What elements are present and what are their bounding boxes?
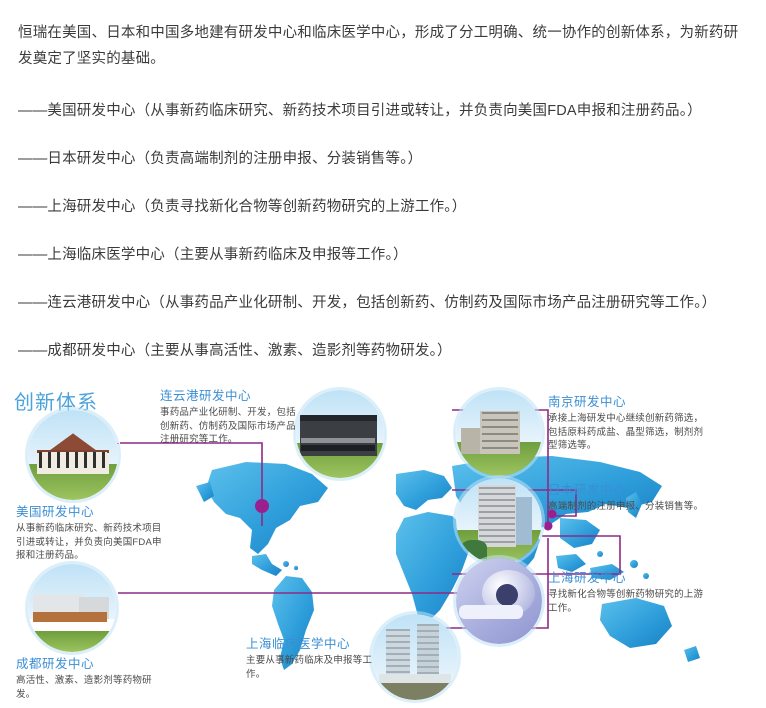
lianyungang-center-desc: 事药品产业化研制、开发，包括创新药、仿制药及国际市场产品注册研究等工作。 <box>160 406 300 447</box>
chengdu-center-photo <box>28 564 116 652</box>
paragraph-chengdu-center: ——成都研发中心（主要从事高活性、激素、造影剂等药物研发。） <box>18 338 748 364</box>
chengdu-center-desc: 高活性、激素、造影剂等药物研发。 <box>16 674 166 701</box>
innovation-system-infographic: 创新体系 <box>0 378 766 708</box>
japan-center-title: 日本研发中心 <box>548 482 708 498</box>
us-center-label: 美国研发中心 从事新药临床研究、新药技术项目引进或转让，并负责向美国FDA申报和… <box>16 504 166 563</box>
lianyungang-center-label: 连云港研发中心 事药品产业化研制、开发，包括创新药、仿制药及国际市场产品注册研究… <box>160 388 300 447</box>
shanghai-clinical-label: 上海临床医学中心 主要从事新药临床及申报等工作。 <box>246 636 376 681</box>
paragraph-shanghai-center: ——上海研发中心（负责寻找新化合物等创新药物研究的上游工作。） <box>18 194 748 220</box>
article-body: 恒瑞在美国、日本和中国多地建有研发中心和临床医学中心，形成了分工明确、统一协作的… <box>0 0 766 412</box>
japan-center-desc: 高端制剂的注册申报、分装销售等。 <box>548 500 708 514</box>
paragraph-japan-center: ——日本研发中心（负责高端制剂的注册申报、分装销售等。） <box>18 146 748 172</box>
nanjing-center-photo <box>456 390 542 476</box>
nanjing-center-label: 南京研发中心 承接上海研发中心继续创新药筛选，包括原料药成盐、晶型筛选，制剂剂型… <box>548 394 708 453</box>
lianyungang-center-photo <box>296 390 384 478</box>
shanghai-clinical-desc: 主要从事新药临床及申报等工作。 <box>246 654 376 681</box>
shanghai-center-desc: 寻找新化合物等创新药物研究的上游工作。 <box>548 588 708 615</box>
us-center-desc: 从事新药临床研究、新药技术项目引进或转让，并负责向美国FDA申报和注册药品。 <box>16 522 166 563</box>
shanghai-center-label: 上海研发中心 寻找新化合物等创新药物研究的上游工作。 <box>548 570 708 615</box>
shanghai-clinical-photo <box>372 614 458 700</box>
us-center-title: 美国研发中心 <box>16 504 166 520</box>
us-center-photo <box>28 410 118 500</box>
paragraph-us-center: ——美国研发中心（从事新药临床研究、新药技术项目引进或转让，并负责向美国FDA申… <box>18 98 748 124</box>
lianyungang-center-title: 连云港研发中心 <box>160 388 300 404</box>
chengdu-center-label: 成都研发中心 高活性、激素、造影剂等药物研发。 <box>16 656 166 701</box>
shanghai-clinical-title: 上海临床医学中心 <box>246 636 376 652</box>
nanjing-center-desc: 承接上海研发中心继续创新药筛选，包括原料药成盐、晶型筛选，制剂剂型筛选等。 <box>548 412 708 453</box>
japan-center-photo <box>456 478 542 564</box>
nanjing-center-title: 南京研发中心 <box>548 394 708 410</box>
japan-center-label: 日本研发中心 高端制剂的注册申报、分装销售等。 <box>548 482 708 514</box>
paragraph-intro: 恒瑞在美国、日本和中国多地建有研发中心和临床医学中心，形成了分工明确、统一协作的… <box>18 20 748 72</box>
shanghai-center-photo <box>456 558 542 644</box>
shanghai-center-title: 上海研发中心 <box>548 570 708 586</box>
paragraph-lianyungang-center: ——连云港研发中心（从事药品产业化研制、开发，包括创新药、仿制药及国际市场产品注… <box>18 290 748 316</box>
paragraph-shanghai-clinical-center: ——上海临床医学中心（主要从事新药临床及申报等工作。） <box>18 242 748 268</box>
chengdu-center-title: 成都研发中心 <box>16 656 166 672</box>
